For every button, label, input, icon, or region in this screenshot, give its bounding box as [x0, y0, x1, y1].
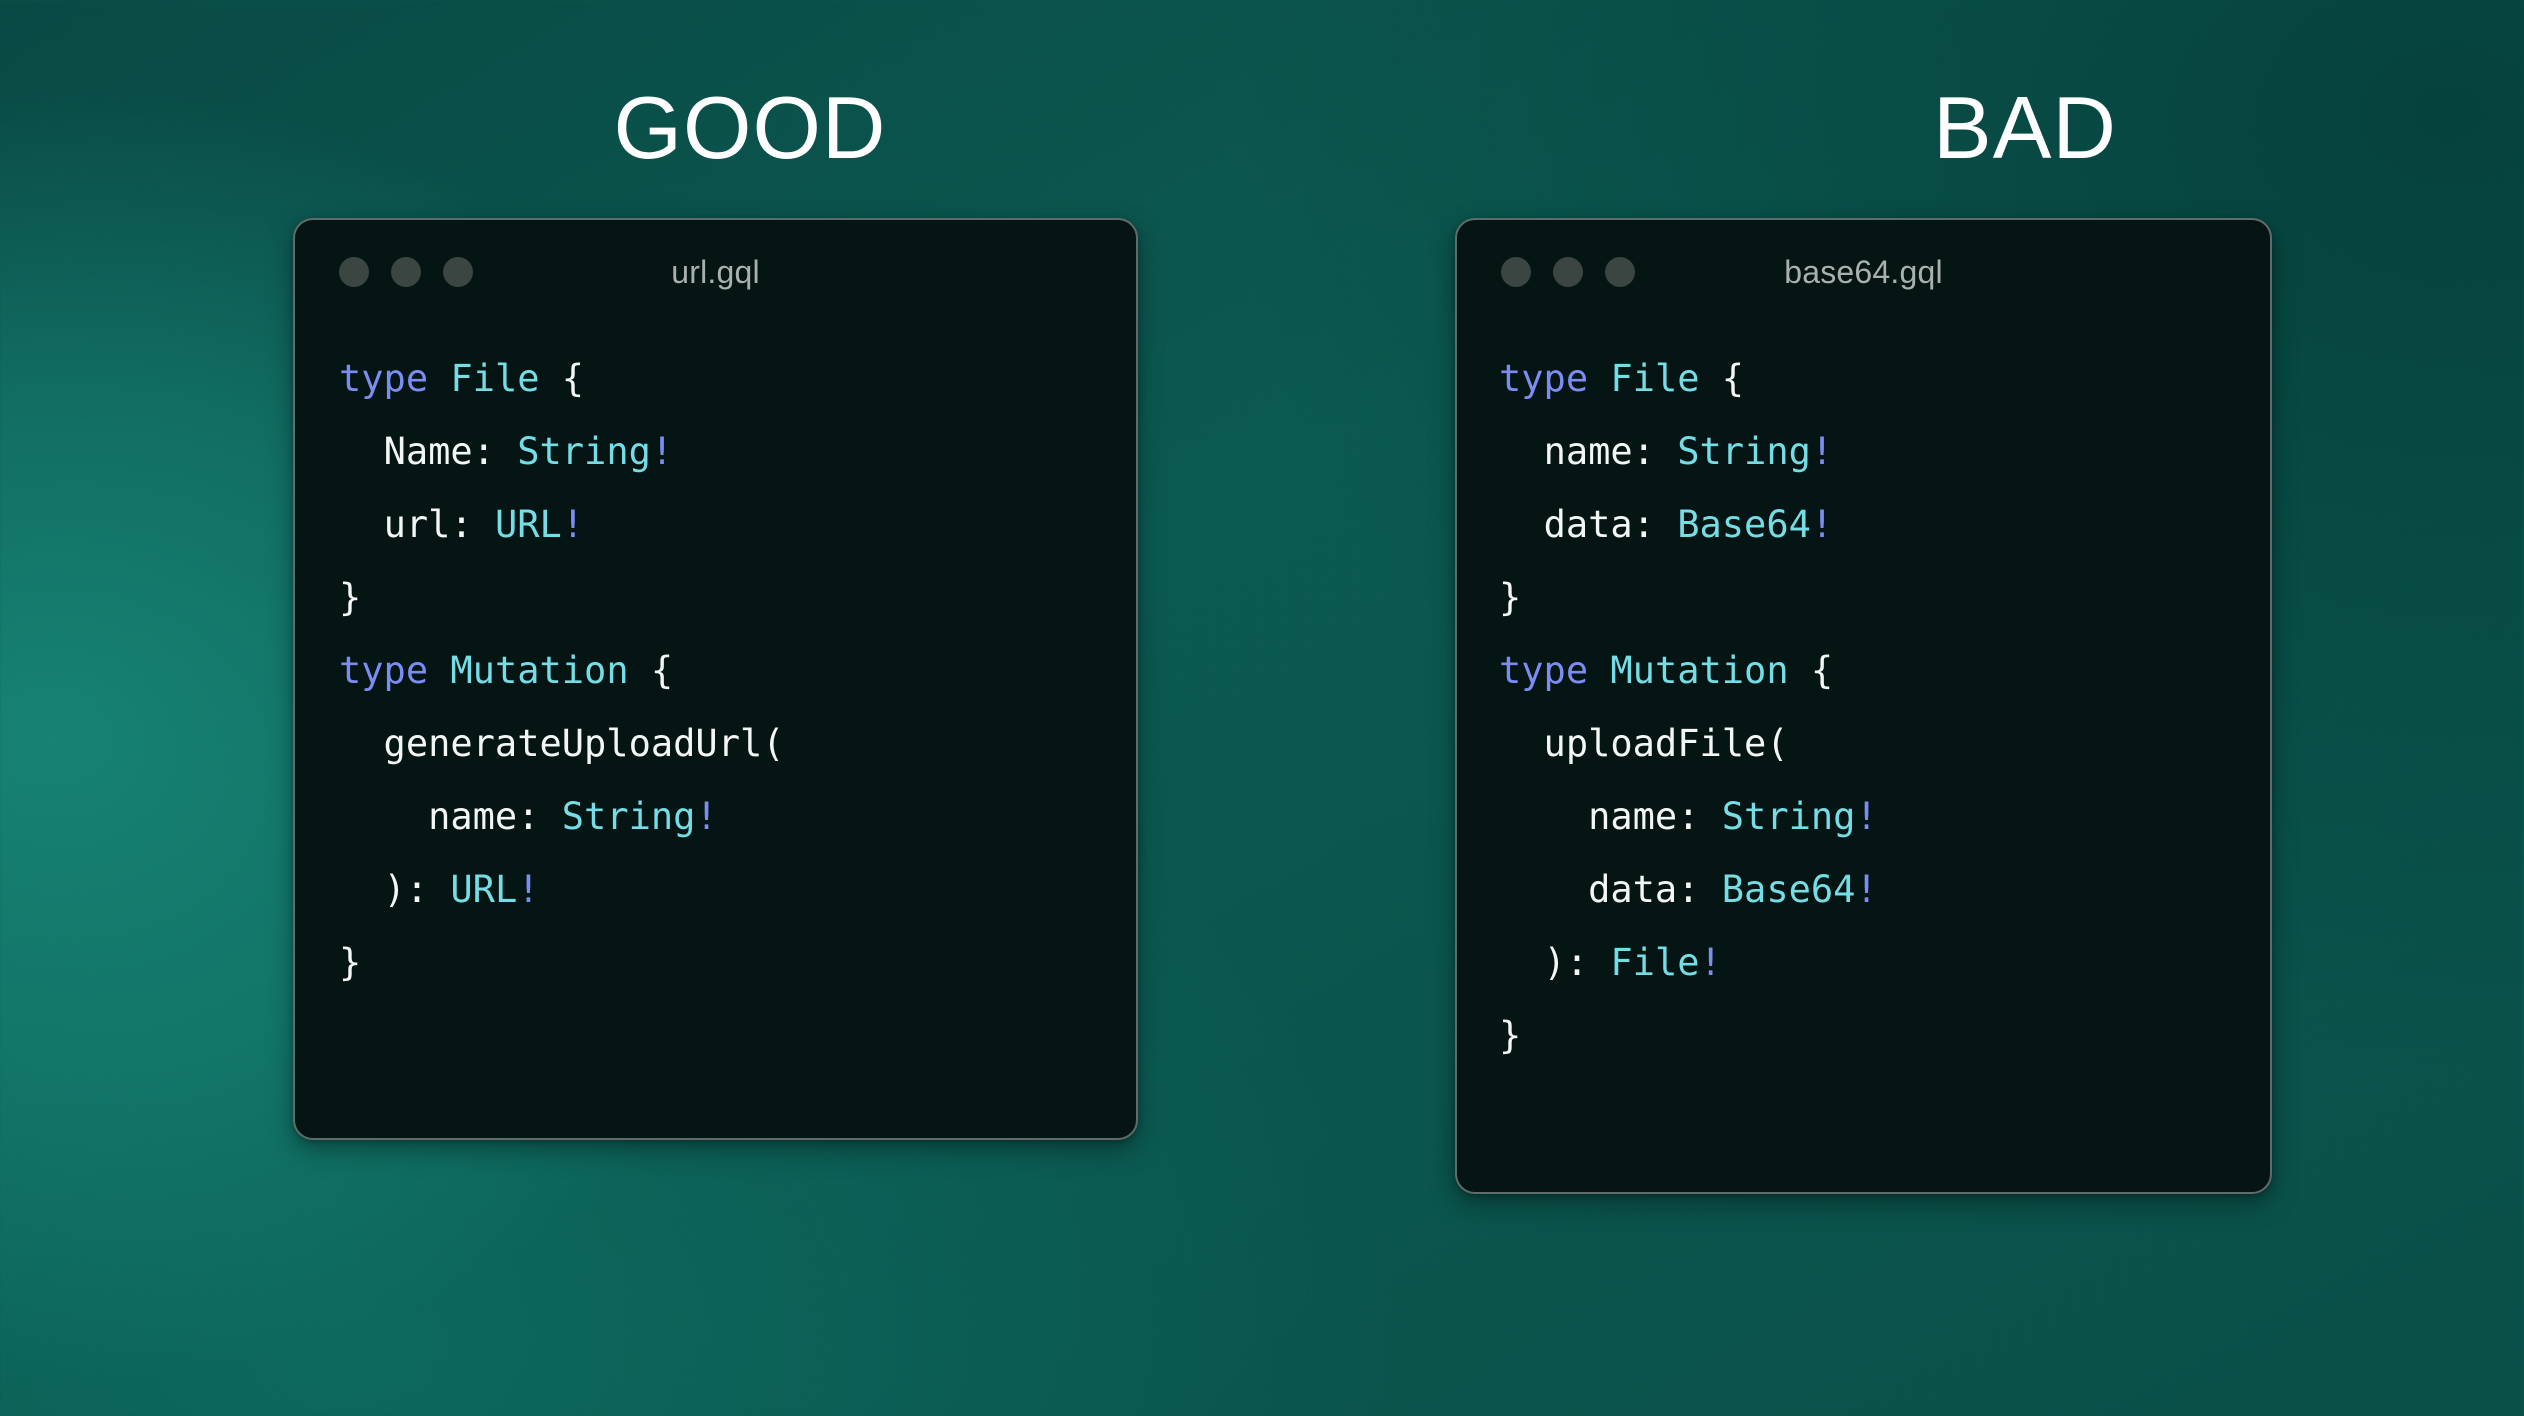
code-token-plain: } — [1499, 1014, 1521, 1057]
code-token-plain: name: — [428, 795, 562, 838]
window-controls-bad — [1501, 257, 1635, 287]
code-token-bang: ! — [1811, 430, 1833, 473]
column-heading-good: GOOD — [180, 84, 1320, 172]
code-token-type: Mutation — [450, 649, 628, 692]
code-token-plain: name: — [1588, 795, 1722, 838]
code-token-bang: ! — [517, 868, 539, 911]
code-token-plain: ): — [1499, 941, 1610, 984]
code-token-type: File — [1610, 357, 1699, 400]
code-token-plain — [1499, 503, 1544, 546]
code-window-good: url.gql type File { Name: String! url: U… — [293, 218, 1138, 1140]
maximize-dot-icon[interactable] — [443, 257, 473, 287]
code-line: uploadFile( — [1499, 707, 2270, 780]
window-controls-good — [339, 257, 473, 287]
titlebar-bad: base64.gql — [1457, 220, 2270, 324]
code-token-type: File — [1610, 941, 1699, 984]
code-token-bang: ! — [562, 503, 584, 546]
code-line: } — [1499, 561, 2270, 634]
code-token-plain — [1499, 795, 1588, 838]
code-token-plain: name: — [1544, 430, 1678, 473]
code-line: type File { — [339, 342, 1136, 415]
code-token-plain — [339, 503, 384, 546]
code-token-type: URL — [450, 868, 517, 911]
code-token-plain: generateUploadUrl( — [339, 722, 785, 765]
minimize-dot-icon[interactable] — [1553, 257, 1583, 287]
code-line: type Mutation { — [339, 634, 1136, 707]
minimize-dot-icon[interactable] — [391, 257, 421, 287]
code-line: url: URL! — [339, 488, 1136, 561]
code-token-type: Mutation — [1610, 649, 1788, 692]
code-token-plain: uploadFile( — [1499, 722, 1789, 765]
code-token-plain: data: — [1588, 868, 1722, 911]
code-token-plain: { — [540, 357, 585, 400]
code-token-plain — [1499, 430, 1544, 473]
code-line: } — [339, 561, 1136, 634]
code-token-bang: ! — [1855, 795, 1877, 838]
code-token-plain: { — [1789, 649, 1834, 692]
code-line: type File { — [1499, 342, 2270, 415]
titlebar-good: url.gql — [295, 220, 1136, 324]
code-token-type: String — [517, 430, 651, 473]
code-token-type: String — [1677, 430, 1811, 473]
code-token-bang: ! — [1855, 868, 1877, 911]
code-token-type: File — [450, 357, 539, 400]
code-token-bang: ! — [1700, 941, 1722, 984]
code-token-kw: type — [1499, 649, 1588, 692]
code-token-kw: type — [339, 357, 428, 400]
code-content-bad: type File { name: String! data: Base64!}… — [1457, 324, 2270, 1072]
code-line: } — [339, 926, 1136, 999]
code-token-plain — [339, 795, 428, 838]
code-token-plain — [428, 357, 450, 400]
close-dot-icon[interactable] — [339, 257, 369, 287]
code-token-plain: Name: — [384, 430, 518, 473]
code-token-plain: } — [1499, 576, 1521, 619]
code-token-kw: type — [339, 649, 428, 692]
code-token-type: String — [562, 795, 696, 838]
code-line: } — [1499, 999, 2270, 1072]
code-line: name: String! — [1499, 415, 2270, 488]
code-line: Name: String! — [339, 415, 1136, 488]
code-token-bang: ! — [651, 430, 673, 473]
comparison-stage: GOOD url.gql type File { Name: String! u… — [0, 0, 2524, 1416]
code-token-plain: data: — [1544, 503, 1678, 546]
code-token-plain — [428, 649, 450, 692]
code-token-type: Base64 — [1677, 503, 1811, 546]
code-line: name: String! — [339, 780, 1136, 853]
code-line: generateUploadUrl( — [339, 707, 1136, 780]
code-token-plain: url: — [384, 503, 495, 546]
maximize-dot-icon[interactable] — [1605, 257, 1635, 287]
column-heading-bad: BAD — [1455, 84, 2524, 172]
code-token-plain — [1588, 649, 1610, 692]
code-token-type: String — [1722, 795, 1856, 838]
code-token-type: Base64 — [1722, 868, 1856, 911]
code-token-bang: ! — [695, 795, 717, 838]
code-token-plain: { — [629, 649, 674, 692]
close-dot-icon[interactable] — [1501, 257, 1531, 287]
code-token-plain — [1588, 357, 1610, 400]
code-line: name: String! — [1499, 780, 2270, 853]
code-token-plain: } — [339, 941, 361, 984]
code-line: data: Base64! — [1499, 853, 2270, 926]
code-line: ): File! — [1499, 926, 2270, 999]
code-window-bad: base64.gql type File { name: String! dat… — [1455, 218, 2272, 1194]
code-content-good: type File { Name: String! url: URL!}type… — [295, 324, 1136, 999]
code-token-plain: ): — [339, 868, 450, 911]
code-token-plain: { — [1700, 357, 1745, 400]
code-token-type: URL — [495, 503, 562, 546]
code-token-plain — [339, 430, 384, 473]
code-line: type Mutation { — [1499, 634, 2270, 707]
code-token-plain — [1499, 868, 1588, 911]
code-token-bang: ! — [1811, 503, 1833, 546]
code-token-kw: type — [1499, 357, 1588, 400]
code-token-plain: } — [339, 576, 361, 619]
code-line: ): URL! — [339, 853, 1136, 926]
code-line: data: Base64! — [1499, 488, 2270, 561]
